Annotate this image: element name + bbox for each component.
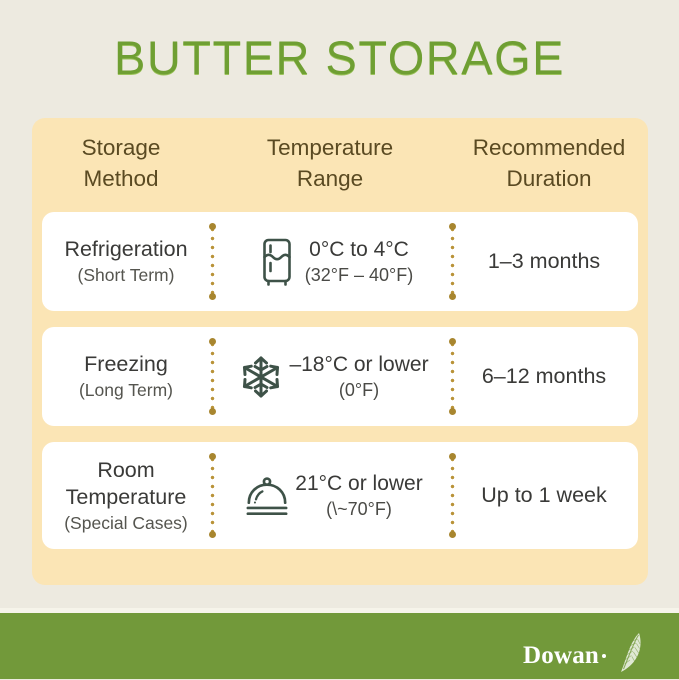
method-name: Refrigeration xyxy=(64,236,187,263)
cell-temperature-range: 21°C or lower (\~70°F) xyxy=(210,442,450,549)
column-header-line2: Range xyxy=(210,163,450,194)
cell-recommended-duration: Up to 1 week xyxy=(450,442,638,549)
column-divider xyxy=(450,455,455,536)
storage-table-panel: Storage Method Temperature Range Recomme… xyxy=(32,118,648,585)
column-header-temperature-range: Temperature Range xyxy=(210,132,450,204)
cell-storage-method: Freezing (Long Term) xyxy=(42,327,210,426)
refrigerator-icon xyxy=(255,234,299,290)
column-header-recommended-duration: Recommended Duration xyxy=(450,132,648,204)
temperature-primary: –18°C or lower xyxy=(289,353,428,376)
column-header-line2: Method xyxy=(32,163,210,194)
cell-temperature-range: –18°C or lower (0°F) xyxy=(210,327,450,426)
table-body: Refrigeration (Short Term) xyxy=(42,212,638,549)
brand-logo: Dowan xyxy=(523,631,645,680)
column-header-line1: Temperature xyxy=(210,132,450,163)
column-divider xyxy=(450,340,455,413)
page-title-container: BUTTER STORAGE xyxy=(0,30,679,86)
column-divider xyxy=(450,225,455,298)
cell-temperature-range: 0°C to 4°C (32°F – 40°F) xyxy=(210,212,450,311)
temperature-secondary: (32°F – 40°F) xyxy=(305,265,413,285)
column-divider xyxy=(210,225,215,298)
column-header-line2: Duration xyxy=(450,163,648,194)
temperature-primary: 0°C to 4°C xyxy=(309,238,409,261)
column-header-line1: Recommended xyxy=(450,132,648,163)
temperature-text: –18°C or lower (0°F) xyxy=(289,351,428,403)
footer-bar: Dowan xyxy=(0,613,679,679)
table-row: Refrigeration (Short Term) xyxy=(42,212,638,311)
page-title: BUTTER STORAGE xyxy=(0,30,679,86)
method-name: Freezing xyxy=(84,351,168,378)
brand-name: Dowan xyxy=(523,641,599,671)
method-name-line1: Room xyxy=(97,457,154,484)
snowflake-icon xyxy=(239,349,283,405)
column-divider xyxy=(210,340,215,413)
column-divider xyxy=(210,455,215,536)
temperature-secondary: (\~70°F) xyxy=(326,499,392,519)
table-row: Room Temperature (Special Cases) xyxy=(42,442,638,549)
cloche-icon xyxy=(245,468,289,524)
temperature-text: 0°C to 4°C (32°F – 40°F) xyxy=(305,236,413,288)
column-header-line1: Storage xyxy=(32,132,210,163)
table-row: Freezing (Long Term) xyxy=(42,327,638,426)
cell-recommended-duration: 6–12 months xyxy=(450,327,638,426)
column-header-storage-method: Storage Method xyxy=(32,132,210,204)
brand-registered-dot xyxy=(602,654,606,658)
temperature-primary: 21°C or lower xyxy=(295,472,422,495)
method-name-line2: Temperature xyxy=(66,484,187,511)
method-qualifier: (Special Cases) xyxy=(64,511,188,535)
temperature-text: 21°C or lower (\~70°F) xyxy=(295,470,422,522)
feather-icon xyxy=(609,631,645,680)
cell-recommended-duration: 1–3 months xyxy=(450,212,638,311)
method-qualifier: (Short Term) xyxy=(78,263,175,287)
table-header-row: Storage Method Temperature Range Recomme… xyxy=(32,132,648,204)
cell-storage-method: Refrigeration (Short Term) xyxy=(42,212,210,311)
cell-storage-method: Room Temperature (Special Cases) xyxy=(42,442,210,549)
method-qualifier: (Long Term) xyxy=(79,378,173,402)
temperature-secondary: (0°F) xyxy=(339,380,379,400)
